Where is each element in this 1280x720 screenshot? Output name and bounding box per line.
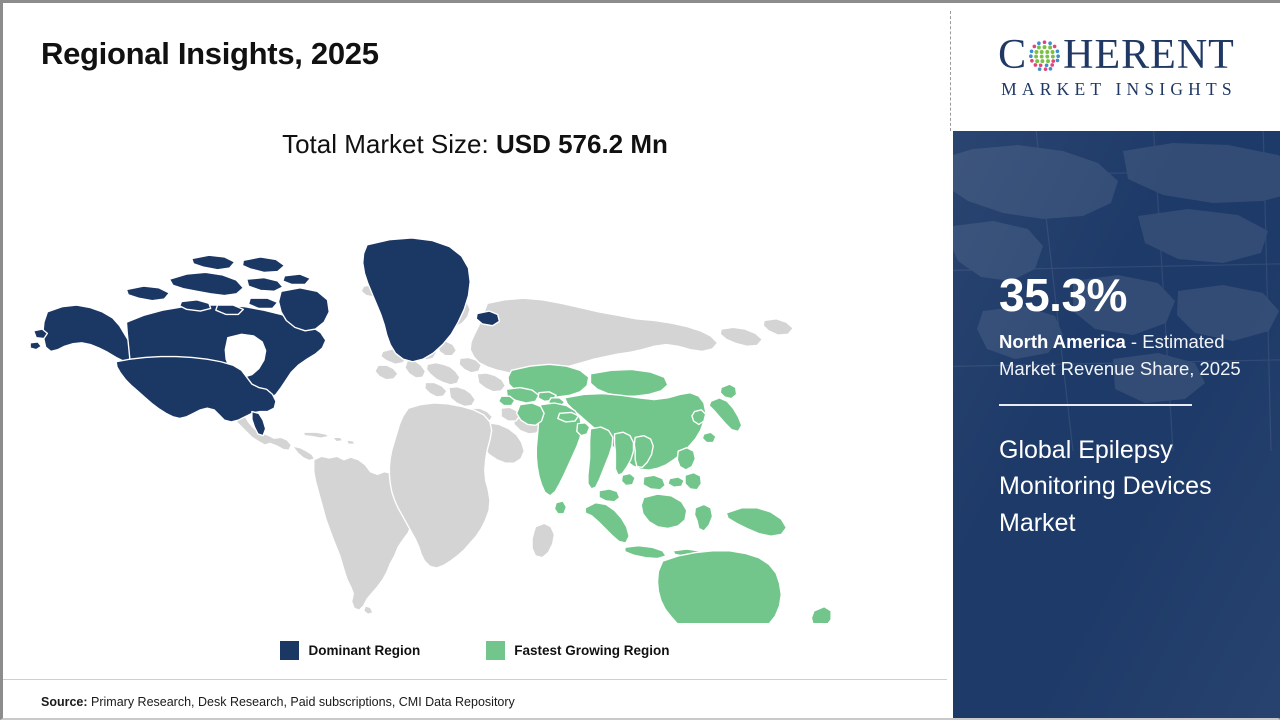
world-map-svg <box>23 183 883 623</box>
map-legend: Dominant Region Fastest Growing Region <box>3 641 947 660</box>
legend-item-dominant-region: Dominant Region <box>280 641 420 660</box>
legend-label-fastest-growing: Fastest Growing Region <box>514 643 669 658</box>
brand-logo: C <box>953 3 1280 131</box>
world-map <box>23 183 883 623</box>
legend-swatch-dominant <box>280 641 299 660</box>
stat-content: 35.3% North America - Estimated Market R… <box>953 131 1280 541</box>
legend-label-dominant: Dominant Region <box>308 643 420 658</box>
regional-insights-infographic: Regional Insights, 2025 Total Market Siz… <box>0 0 1280 720</box>
stat-percentage: 35.3% <box>999 272 1248 319</box>
brand-logo-wordmark: C <box>998 34 1235 76</box>
footer-divider <box>3 679 947 680</box>
main-panel: Regional Insights, 2025 Total Market Siz… <box>3 3 947 718</box>
stat-description: North America - Estimated Market Revenue… <box>999 328 1248 382</box>
total-market-size-value: USD 576.2 Mn <box>496 129 668 159</box>
page-title: Regional Insights, 2025 <box>41 36 379 72</box>
brand-logo-letters-rest: HERENT <box>1063 34 1235 76</box>
legend-swatch-fastest-growing <box>486 641 505 660</box>
legend-item-fastest-growing-region: Fastest Growing Region <box>486 641 669 660</box>
total-market-size: Total Market Size: USD 576.2 Mn <box>3 129 947 160</box>
source-line: Source: Primary Research, Desk Research,… <box>41 695 515 709</box>
brand-logo-letter-c: C <box>998 34 1027 76</box>
source-text: Primary Research, Desk Research, Paid su… <box>88 695 515 709</box>
brand-logo-tagline: MARKET INSIGHTS <box>996 79 1237 100</box>
panel-divider <box>950 11 951 131</box>
stat-region-name: North America <box>999 331 1126 352</box>
right-panel: C <box>953 3 1280 718</box>
stat-panel: 35.3% North America - Estimated Market R… <box>953 131 1280 718</box>
globe-dots-icon <box>1027 38 1062 73</box>
market-name: Global Epilepsy Monitoring Devices Marke… <box>999 432 1248 542</box>
total-market-size-label: Total Market Size: <box>282 129 496 159</box>
stat-divider <box>999 404 1192 406</box>
map-region-fastest-growing <box>499 364 844 623</box>
source-label: Source: <box>41 695 88 709</box>
